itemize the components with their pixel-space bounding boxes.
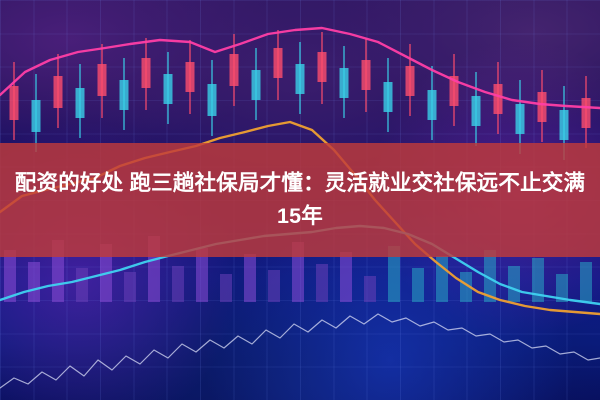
series-line-bottom-white-jagged [0,314,600,388]
headline-text: 配资的好处 跑三趟社保局才懂：灵活就业交社保远不止交满15年 [6,167,594,234]
volume-bar [412,268,424,302]
candle-body [98,64,107,96]
candle-body [340,68,349,98]
candle-body [54,76,63,108]
candle-body [538,92,547,122]
candle-body [76,88,85,118]
candle-body [384,82,393,112]
candle-body [274,48,283,78]
candle-body [208,84,217,116]
candle-body [164,74,173,104]
candle-body [252,70,261,100]
candle-body [472,96,481,126]
candle-body [428,90,437,120]
candle-body [10,86,19,120]
candle-body [318,52,327,82]
volume-bar [580,262,592,302]
candle-body [142,58,151,88]
candle-body [230,54,239,86]
volume-bar [244,254,256,302]
volume-bar [220,274,232,302]
volume-bar [76,268,88,302]
candle-body [32,100,41,132]
volume-bar [340,252,352,302]
volume-bar [172,266,184,302]
candle-body [560,110,569,140]
candle-body [296,64,305,94]
candle-body [186,62,195,92]
candle-body [406,66,415,96]
volume-bar [28,262,40,302]
candle-body [582,98,591,128]
candle-body [120,80,129,110]
stock-chart-banner-image: 配资的好处 跑三趟社保局才懂：灵活就业交社保远不止交满15年 [0,0,600,400]
headline-banner: 配资的好处 跑三趟社保局才懂：灵活就业交社保远不止交满15年 [0,143,600,257]
volume-bar [268,270,280,302]
volume-bar [364,276,376,302]
volume-bar [508,266,520,302]
volume-bar [124,272,136,302]
candle-body [494,84,503,114]
candle-body [516,104,525,134]
volume-bar [316,264,328,302]
candle-body [362,60,371,90]
